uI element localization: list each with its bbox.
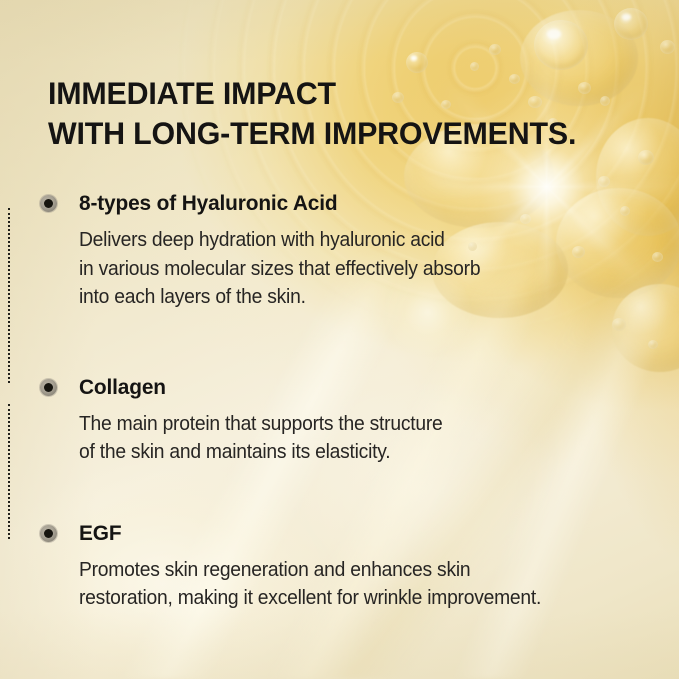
gel-bubble bbox=[406, 52, 428, 73]
gel-bubble bbox=[660, 40, 675, 54]
bullet-dot-icon bbox=[40, 379, 57, 396]
gel-bubble bbox=[598, 176, 610, 187]
dotted-connector-line bbox=[8, 208, 10, 383]
benefit-list: 8-types of Hyaluronic Acid Delivers deep… bbox=[40, 190, 665, 613]
product-benefits-poster: IMMEDIATE IMPACT WITH LONG-TERM IMPROVEM… bbox=[0, 0, 679, 679]
gel-bubble bbox=[638, 150, 654, 165]
dotted-connector-line bbox=[8, 404, 10, 539]
gel-bubble bbox=[614, 8, 648, 40]
list-spacer bbox=[40, 312, 665, 374]
benefit-item-collagen: Collagen The main protein that supports … bbox=[40, 374, 665, 467]
benefit-body: The main protein that supports the struc… bbox=[79, 410, 639, 467]
benefit-title: EGF bbox=[79, 520, 647, 547]
gel-bubble bbox=[470, 62, 479, 71]
benefit-title: Collagen bbox=[79, 374, 647, 401]
benefit-item-hyaluronic-acid: 8-types of Hyaluronic Acid Delivers deep… bbox=[40, 190, 665, 312]
bullet-dot-icon bbox=[40, 195, 57, 212]
benefit-title: 8-types of Hyaluronic Acid bbox=[79, 190, 647, 217]
gel-bubble bbox=[534, 20, 588, 70]
benefit-body: Delivers deep hydration with hyaluronic … bbox=[79, 226, 639, 312]
list-spacer bbox=[40, 467, 665, 520]
page-title: IMMEDIATE IMPACT WITH LONG-TERM IMPROVEM… bbox=[48, 73, 627, 153]
benefit-item-egf: EGF Promotes skin regeneration and enhan… bbox=[40, 520, 665, 613]
bullet-dot-icon bbox=[40, 525, 57, 542]
gel-bubble bbox=[489, 44, 501, 55]
benefit-body: Promotes skin regeneration and enhances … bbox=[79, 556, 639, 613]
